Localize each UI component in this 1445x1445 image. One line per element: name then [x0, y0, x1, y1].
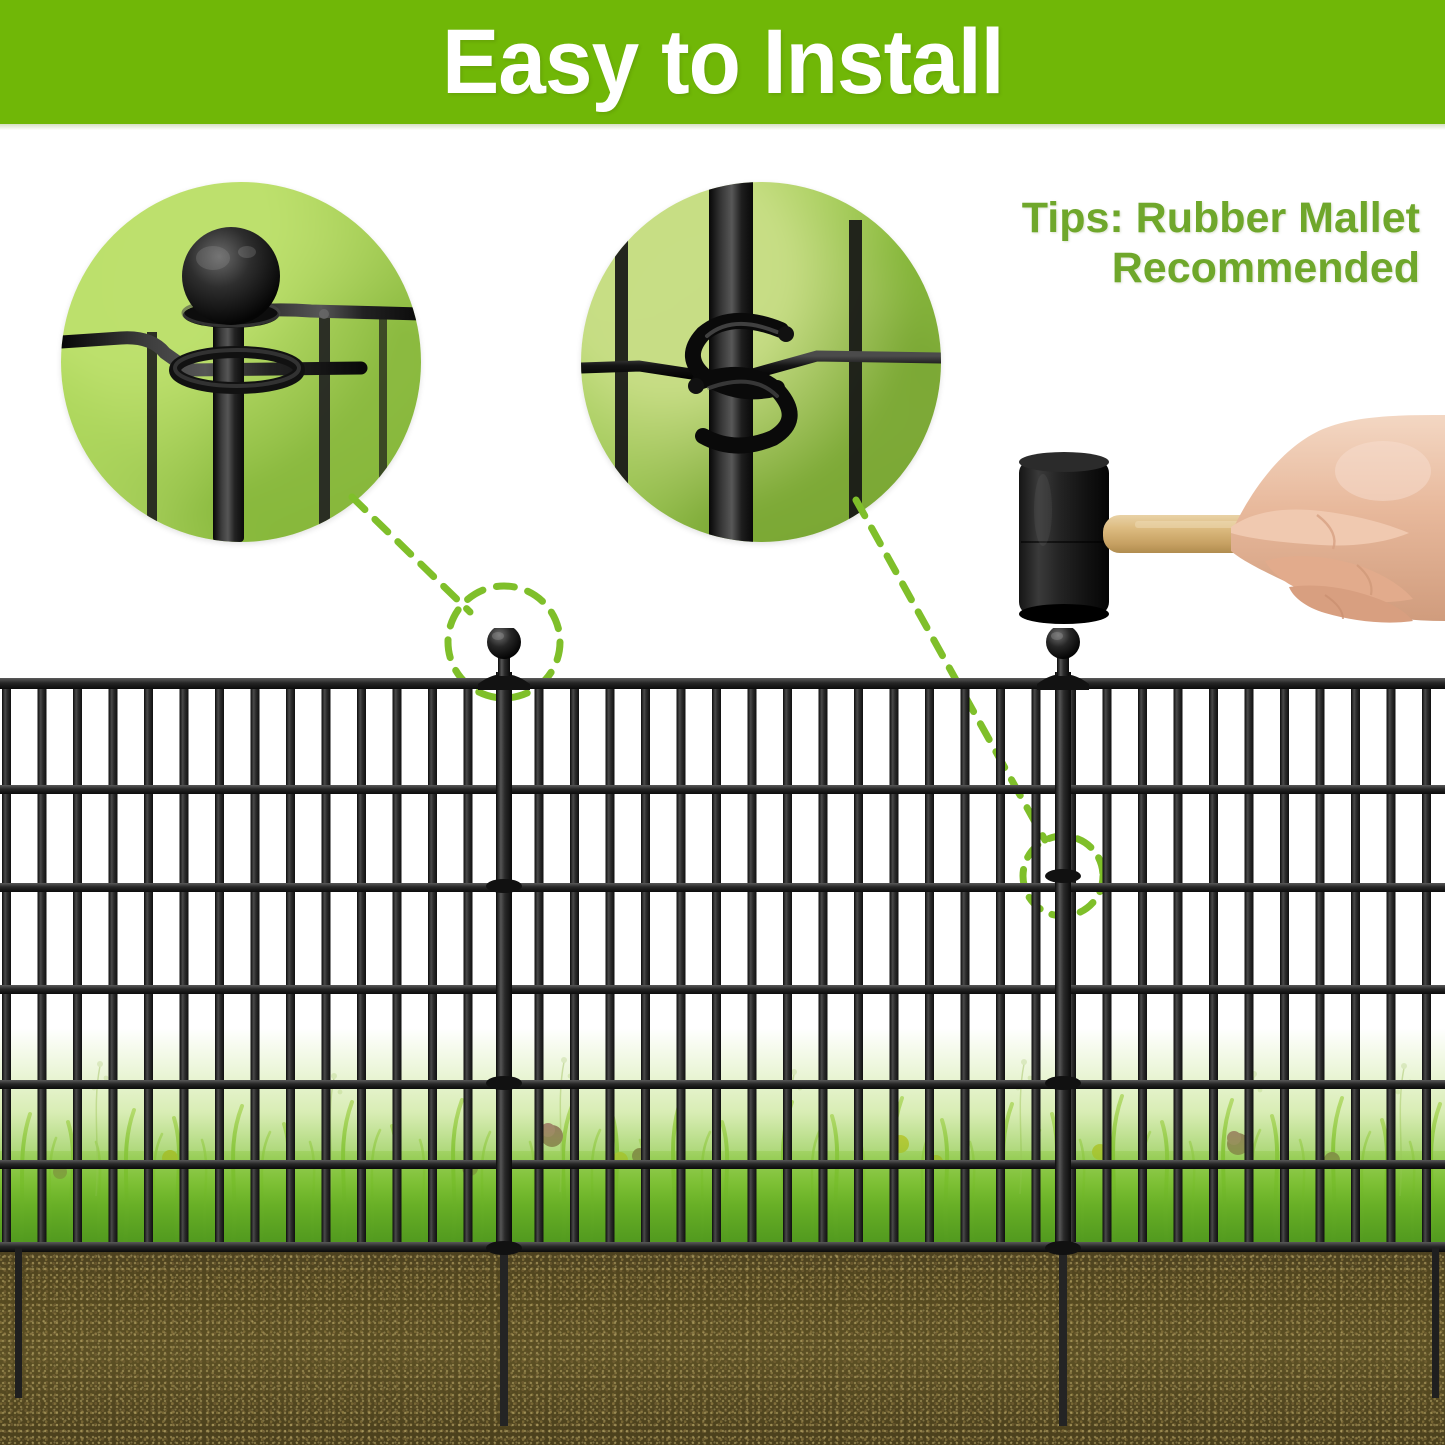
rubber-mallet-in-hand [985, 415, 1445, 655]
callout-circle-hook [581, 182, 941, 542]
tips-label: Tips: [1022, 194, 1124, 242]
hand [1231, 415, 1445, 623]
banner-divider-shadow [0, 124, 1445, 130]
tips-line2: Recommended [975, 243, 1420, 293]
fence-installation-scene [0, 628, 1445, 1445]
header-banner: Easy to Install [0, 0, 1445, 124]
finial-detail-illustration [61, 182, 421, 542]
ground-stakes [15, 1248, 1439, 1398]
fence-post-left [478, 628, 530, 1426]
mallet-head [1019, 452, 1109, 624]
hook-connector-illustration [581, 182, 941, 542]
tips-text: Tips: Rubber Mallet Recommended [975, 193, 1420, 293]
fence-post-right [1037, 628, 1089, 1426]
metal-garden-fence [0, 628, 1445, 1445]
page-title: Easy to Install [442, 16, 1003, 108]
callout-circle-finial [61, 182, 421, 542]
product-image-canvas: Easy to Install Tips: Rubber Mallet Reco… [0, 0, 1445, 1445]
tips-line1-rest: Rubber Mallet [1124, 194, 1420, 242]
